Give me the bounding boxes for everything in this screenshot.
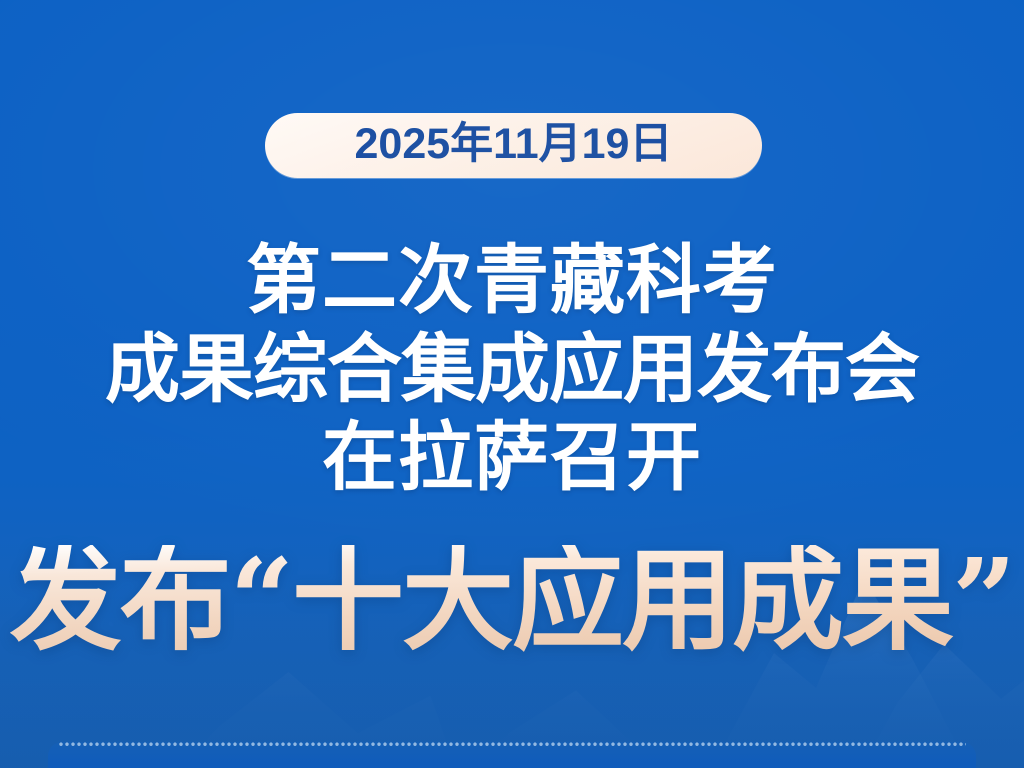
headline-line-1: 第二次青藏科考 [0,242,1024,319]
feature-headline: 发布“十大应用成果” [0,545,1024,657]
headline-line-3: 在拉萨召开 [0,419,1024,496]
bottom-content-card[interactable] [48,742,976,768]
date-badge-label: 2025年11月19日 [355,123,673,166]
poster-canvas: 2025年11月19日 第二次青藏科考 成果综合集成应用发布会 在拉萨召开 发布… [0,0,1024,768]
headline-line-2: 成果综合集成应用发布会 [0,331,1024,408]
date-badge: 2025年11月19日 [265,113,762,178]
scalloped-edge-decoration [58,742,966,747]
page-title: 第二次青藏科考 成果综合集成应用发布会 在拉萨召开 [0,242,1024,496]
feature-headline-label: 发布“十大应用成果” [10,545,1015,657]
